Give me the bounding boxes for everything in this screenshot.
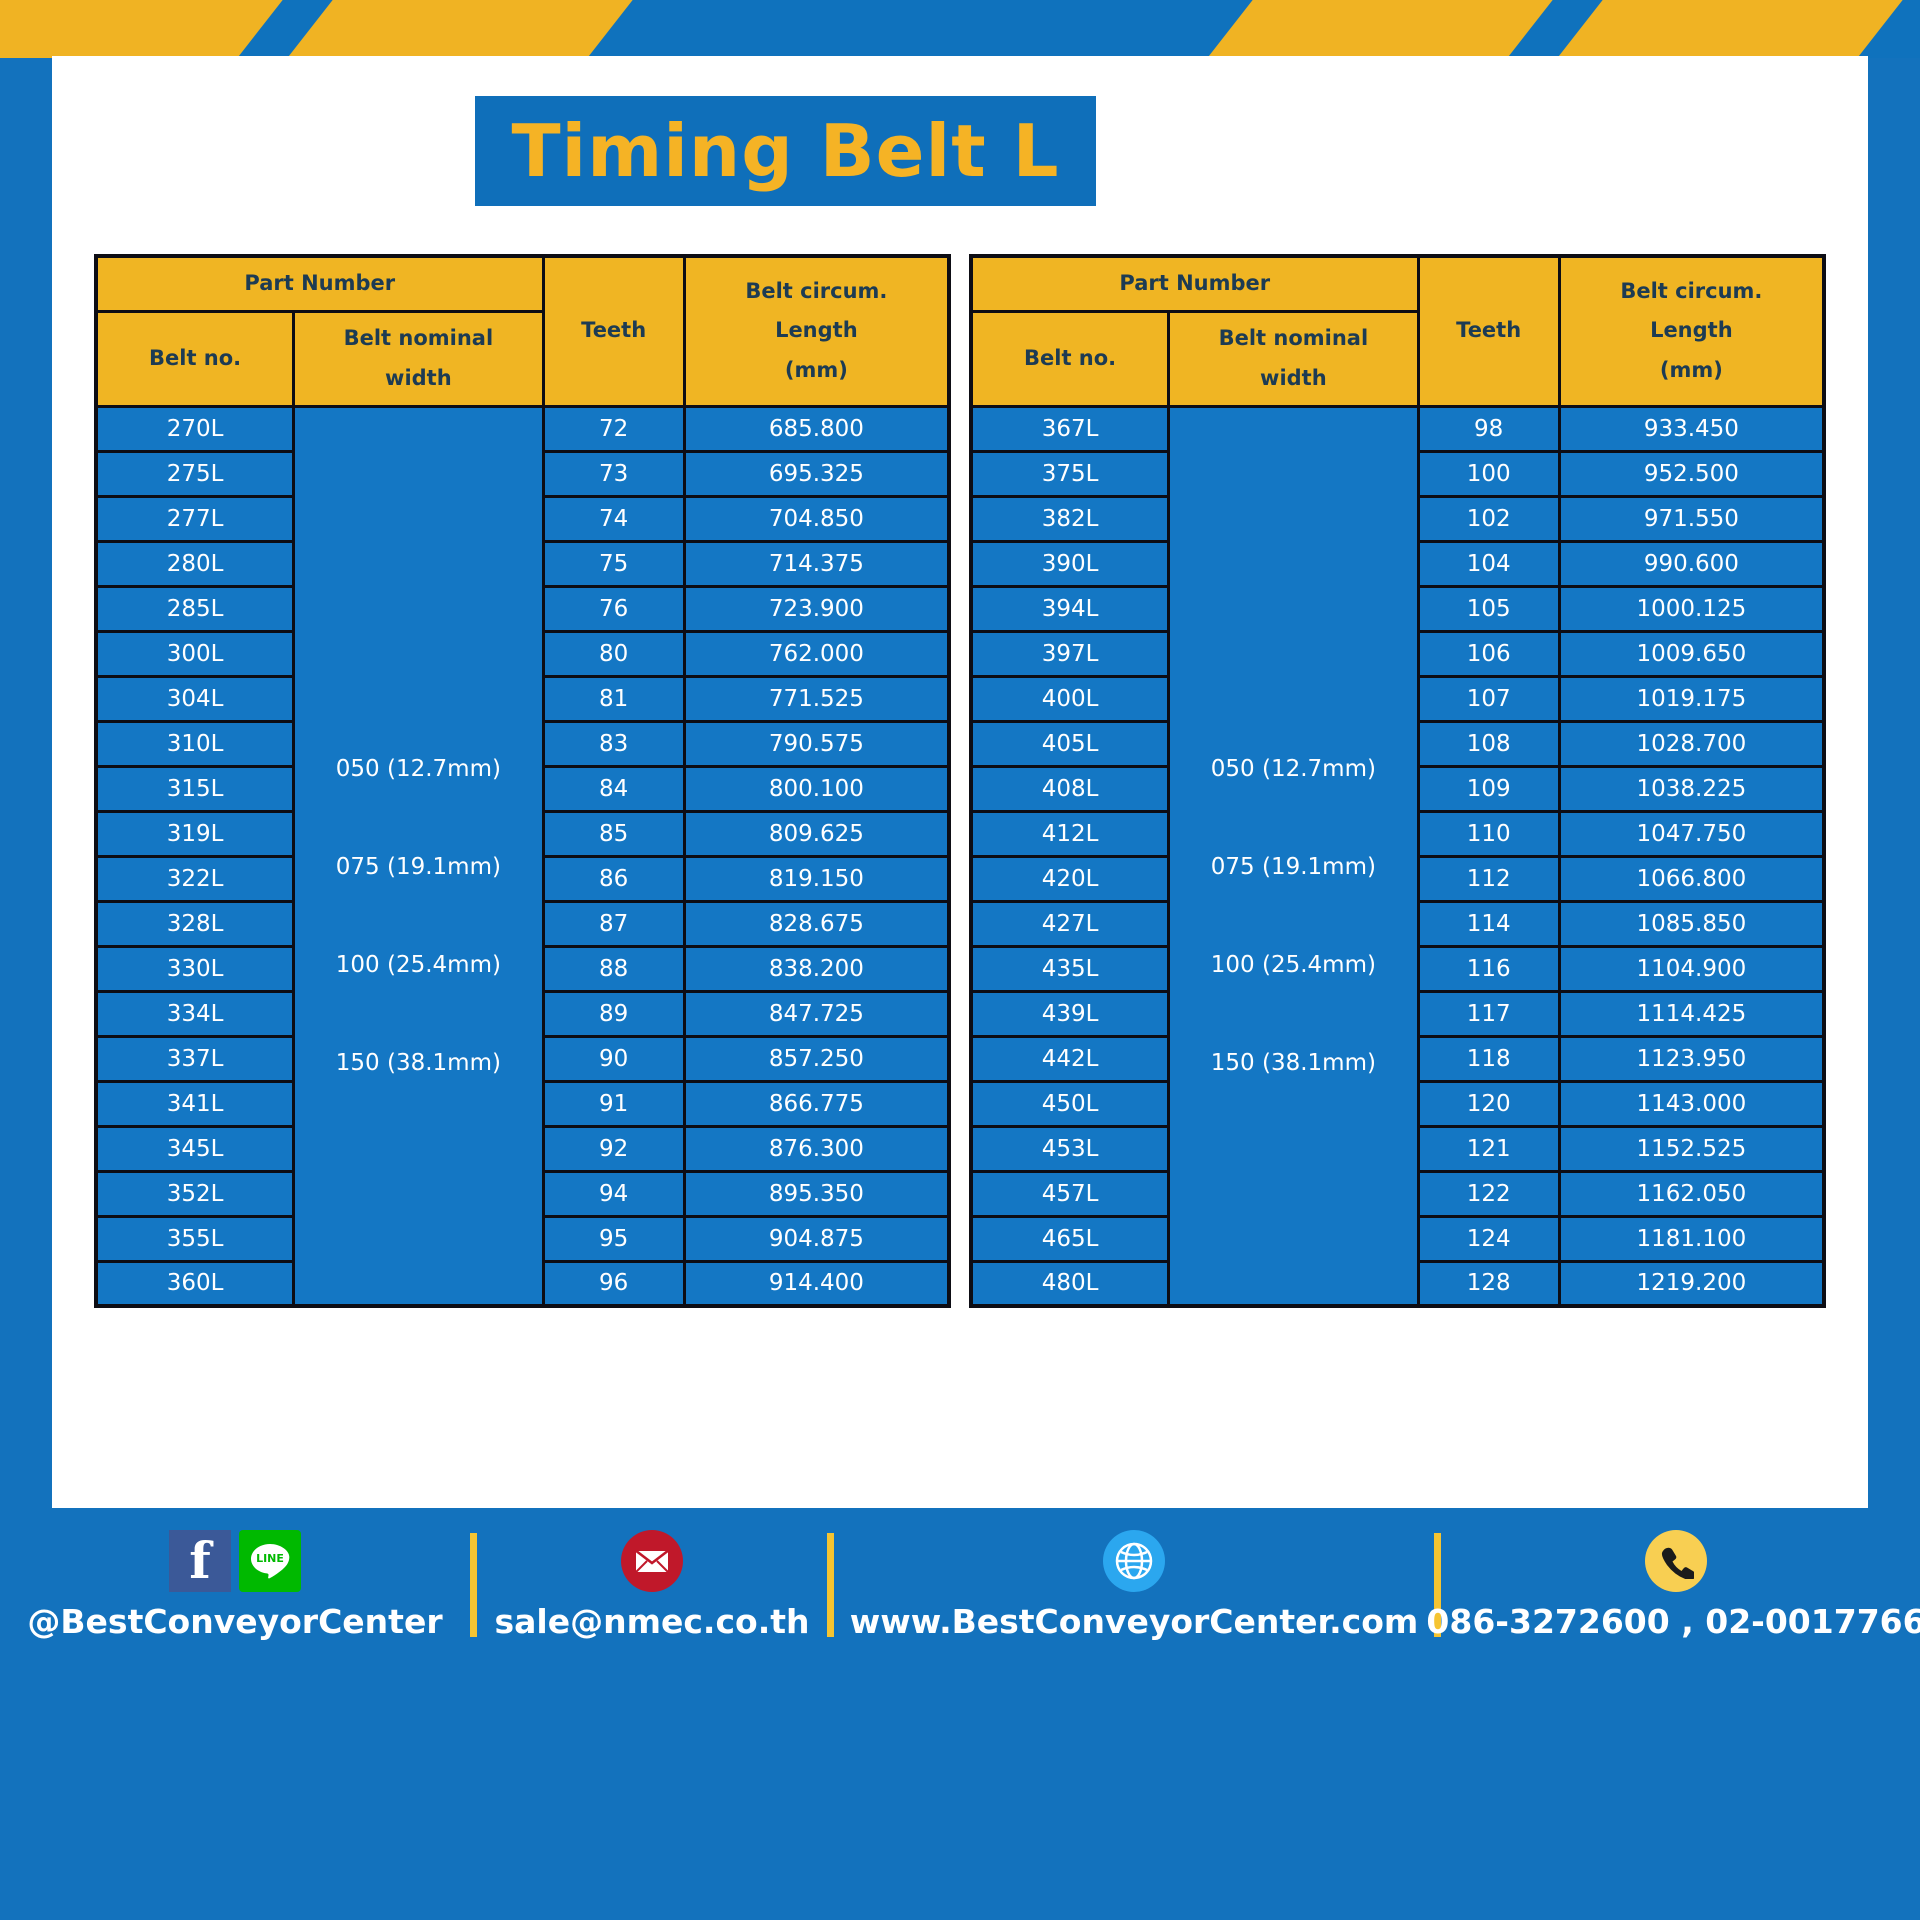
header-mm-unit: (mm) <box>690 351 943 391</box>
table-row: 367L050 (12.7mm)075 (19.1mm)100 (25.4mm)… <box>971 406 1824 451</box>
facebook-icon[interactable]: f <box>169 1530 231 1592</box>
belt-table-right-body: 367L050 (12.7mm)075 (19.1mm)100 (25.4mm)… <box>971 406 1824 1306</box>
cell-teeth: 120 <box>1418 1081 1559 1126</box>
cell-belt-nominal-width: 050 (12.7mm)075 (19.1mm)100 (25.4mm)150 … <box>294 406 543 1306</box>
cell-length-mm: 971.550 <box>1559 496 1824 541</box>
cell-length-mm: 1038.225 <box>1559 766 1824 811</box>
email-address[interactable]: sale@nmec.co.th <box>495 1602 810 1641</box>
cell-length-mm: 876.300 <box>684 1126 949 1171</box>
cell-teeth: 109 <box>1418 766 1559 811</box>
width-option: 150 (38.1mm) <box>297 978 539 1076</box>
cell-length-mm: 952.500 <box>1559 451 1824 496</box>
chevron-decoration <box>1204 0 1556 58</box>
cell-teeth: 83 <box>543 721 684 766</box>
cell-length-mm: 895.350 <box>684 1171 949 1216</box>
cell-belt-no: 322L <box>96 856 294 901</box>
cell-length-mm: 762.000 <box>684 631 949 676</box>
cell-belt-no: 397L <box>971 631 1169 676</box>
header-belt-circum-length: Belt circum. Length (mm) <box>1559 256 1824 406</box>
cell-teeth: 98 <box>1418 406 1559 451</box>
table-header-row-1: Part Number Teeth Belt circum. Length (m… <box>96 256 949 311</box>
cell-length-mm: 857.250 <box>684 1036 949 1081</box>
cell-length-mm: 1047.750 <box>1559 811 1824 856</box>
svg-text:LINE: LINE <box>256 1552 284 1565</box>
cell-length-mm: 800.100 <box>684 766 949 811</box>
footer-divider <box>827 1533 834 1637</box>
header-length: Length <box>690 311 943 351</box>
cell-teeth: 104 <box>1418 541 1559 586</box>
header-teeth: Teeth <box>543 256 684 406</box>
cell-teeth: 112 <box>1418 856 1559 901</box>
cell-length-mm: 704.850 <box>684 496 949 541</box>
cell-belt-no: 337L <box>96 1036 294 1081</box>
belt-table-left: Part Number Teeth Belt circum. Length (m… <box>94 254 951 1308</box>
cell-belt-no: 352L <box>96 1171 294 1216</box>
cell-length-mm: 1009.650 <box>1559 631 1824 676</box>
cell-teeth: 117 <box>1418 991 1559 1036</box>
cell-length-mm: 866.775 <box>684 1081 949 1126</box>
footer-phone-group[interactable]: 086-3272600 , 02-0017766 <box>1441 1530 1911 1641</box>
chevron-decoration <box>1554 0 1906 58</box>
email-icons <box>621 1530 683 1592</box>
header-belt-circum: Belt circum. <box>690 272 943 312</box>
cell-length-mm: 1114.425 <box>1559 991 1824 1036</box>
cell-length-mm: 723.900 <box>684 586 949 631</box>
footer-website-group[interactable]: www.BestConveyorCenter.com <box>834 1530 1434 1641</box>
cell-belt-no: 277L <box>96 496 294 541</box>
footer-email-group[interactable]: sale@nmec.co.th <box>477 1530 827 1641</box>
cell-length-mm: 1019.175 <box>1559 676 1824 721</box>
cell-teeth: 102 <box>1418 496 1559 541</box>
cell-teeth: 116 <box>1418 946 1559 991</box>
cell-length-mm: 1028.700 <box>1559 721 1824 766</box>
cell-belt-no: 310L <box>96 721 294 766</box>
globe-icon[interactable] <box>1103 1530 1165 1592</box>
cell-belt-no: 285L <box>96 586 294 631</box>
header-part-number: Part Number <box>971 256 1418 311</box>
header-belt-circum-length: Belt circum. Length (mm) <box>684 256 949 406</box>
line-icon[interactable]: LINE <box>239 1530 301 1592</box>
header-belt-no: Belt no. <box>971 311 1169 406</box>
cell-belt-no: 465L <box>971 1216 1169 1261</box>
cell-teeth: 84 <box>543 766 684 811</box>
cell-teeth: 122 <box>1418 1171 1559 1216</box>
cell-length-mm: 1000.125 <box>1559 586 1824 631</box>
cell-teeth: 86 <box>543 856 684 901</box>
cell-teeth: 108 <box>1418 721 1559 766</box>
cell-teeth: 88 <box>543 946 684 991</box>
cell-belt-no: 304L <box>96 676 294 721</box>
cell-length-mm: 1152.525 <box>1559 1126 1824 1171</box>
cell-teeth: 76 <box>543 586 684 631</box>
page-title: Timing Belt L <box>511 109 1059 193</box>
footer-social-group[interactable]: f LINE @BestConveyorCenter <box>0 1530 470 1641</box>
cell-length-mm: 904.875 <box>684 1216 949 1261</box>
cell-belt-no: 400L <box>971 676 1169 721</box>
cell-teeth: 128 <box>1418 1261 1559 1306</box>
cell-length-mm: 790.575 <box>684 721 949 766</box>
phone-icon[interactable] <box>1645 1530 1707 1592</box>
cell-belt-no: 435L <box>971 946 1169 991</box>
cell-belt-no: 375L <box>971 451 1169 496</box>
cell-teeth: 74 <box>543 496 684 541</box>
cell-length-mm: 809.625 <box>684 811 949 856</box>
chevron-decoration <box>0 0 286 58</box>
cell-belt-no: 442L <box>971 1036 1169 1081</box>
header-belt-nominal: Belt nominal <box>1174 319 1412 359</box>
cell-belt-no: 355L <box>96 1216 294 1261</box>
cell-teeth: 91 <box>543 1081 684 1126</box>
cell-belt-no: 300L <box>96 631 294 676</box>
cell-belt-no: 367L <box>971 406 1169 451</box>
header-part-number: Part Number <box>96 256 543 311</box>
cell-teeth: 96 <box>543 1261 684 1306</box>
cell-length-mm: 1219.200 <box>1559 1261 1824 1306</box>
width-option: 100 (25.4mm) <box>297 880 539 978</box>
cell-teeth: 106 <box>1418 631 1559 676</box>
cell-teeth: 100 <box>1418 451 1559 496</box>
header-belt-nominal-width: Belt nominal width <box>1169 311 1418 406</box>
cell-teeth: 110 <box>1418 811 1559 856</box>
cell-length-mm: 771.525 <box>684 676 949 721</box>
cell-teeth: 81 <box>543 676 684 721</box>
cell-length-mm: 914.400 <box>684 1261 949 1306</box>
cell-length-mm: 1162.050 <box>1559 1171 1824 1216</box>
cell-length-mm: 838.200 <box>684 946 949 991</box>
cell-length-mm: 695.325 <box>684 451 949 496</box>
content-card: Timing Belt L Part Number Teeth Belt cir… <box>52 56 1868 1508</box>
cell-length-mm: 714.375 <box>684 541 949 586</box>
cell-belt-no: 450L <box>971 1081 1169 1126</box>
cell-teeth: 114 <box>1418 901 1559 946</box>
top-decorative-bar <box>0 0 1920 58</box>
cell-belt-no: 270L <box>96 406 294 451</box>
cell-length-mm: 1104.900 <box>1559 946 1824 991</box>
cell-belt-no: 390L <box>971 541 1169 586</box>
cell-teeth: 72 <box>543 406 684 451</box>
cell-belt-no: 405L <box>971 721 1169 766</box>
width-option: 050 (12.7mm) <box>297 636 539 782</box>
width-option: 150 (38.1mm) <box>1172 978 1414 1076</box>
phone-icons <box>1645 1530 1707 1592</box>
cell-teeth: 92 <box>543 1126 684 1171</box>
cell-belt-no: 382L <box>971 496 1169 541</box>
belt-table-right: Part Number Teeth Belt circum. Length (m… <box>969 254 1826 1308</box>
cell-belt-no: 345L <box>96 1126 294 1171</box>
cell-belt-no: 412L <box>971 811 1169 856</box>
cell-belt-no: 319L <box>96 811 294 856</box>
cell-length-mm: 828.675 <box>684 901 949 946</box>
cell-teeth: 80 <box>543 631 684 676</box>
cell-belt-no: 408L <box>971 766 1169 811</box>
social-icons: f LINE <box>169 1530 301 1592</box>
envelope-icon[interactable] <box>621 1530 683 1592</box>
header-teeth: Teeth <box>1418 256 1559 406</box>
cell-length-mm: 1066.800 <box>1559 856 1824 901</box>
cell-belt-no: 480L <box>971 1261 1169 1306</box>
header-belt-no: Belt no. <box>96 311 294 406</box>
page-title-banner: Timing Belt L <box>475 96 1096 206</box>
cell-length-mm: 685.800 <box>684 406 949 451</box>
cell-belt-no: 315L <box>96 766 294 811</box>
header-length: Length <box>1565 311 1818 351</box>
cell-belt-no: 275L <box>96 451 294 496</box>
header-belt-circum: Belt circum. <box>1565 272 1818 312</box>
cell-teeth: 95 <box>543 1216 684 1261</box>
cell-teeth: 73 <box>543 451 684 496</box>
cell-belt-no: 453L <box>971 1126 1169 1171</box>
cell-belt-no: 280L <box>96 541 294 586</box>
cell-belt-no: 360L <box>96 1261 294 1306</box>
header-belt-nominal-width: Belt nominal width <box>294 311 543 406</box>
cell-belt-no: 334L <box>96 991 294 1036</box>
width-option: 075 (19.1mm) <box>1172 782 1414 880</box>
table-row: 270L050 (12.7mm)075 (19.1mm)100 (25.4mm)… <box>96 406 949 451</box>
cell-teeth: 90 <box>543 1036 684 1081</box>
cell-length-mm: 1085.850 <box>1559 901 1824 946</box>
header-width: width <box>1174 359 1412 399</box>
width-option: 075 (19.1mm) <box>297 782 539 880</box>
cell-length-mm: 847.725 <box>684 991 949 1036</box>
website-icons <box>1103 1530 1165 1592</box>
cell-length-mm: 933.450 <box>1559 406 1824 451</box>
cell-teeth: 89 <box>543 991 684 1036</box>
belt-table-left-body: 270L050 (12.7mm)075 (19.1mm)100 (25.4mm)… <box>96 406 949 1306</box>
cell-teeth: 85 <box>543 811 684 856</box>
cell-teeth: 124 <box>1418 1216 1559 1261</box>
cell-belt-no: 427L <box>971 901 1169 946</box>
website-url[interactable]: www.BestConveyorCenter.com <box>850 1602 1419 1641</box>
cell-belt-nominal-width: 050 (12.7mm)075 (19.1mm)100 (25.4mm)150 … <box>1169 406 1418 1306</box>
chevron-decoration <box>284 0 636 58</box>
header-belt-nominal: Belt nominal <box>299 319 537 359</box>
header-width: width <box>299 359 537 399</box>
cell-teeth: 75 <box>543 541 684 586</box>
cell-belt-no: 394L <box>971 586 1169 631</box>
cell-belt-no: 439L <box>971 991 1169 1036</box>
cell-belt-no: 420L <box>971 856 1169 901</box>
cell-teeth: 121 <box>1418 1126 1559 1171</box>
cell-length-mm: 1143.000 <box>1559 1081 1824 1126</box>
header-mm-unit: (mm) <box>1565 351 1818 391</box>
cell-teeth: 105 <box>1418 586 1559 631</box>
cell-belt-no: 328L <box>96 901 294 946</box>
cell-belt-no: 457L <box>971 1171 1169 1216</box>
cell-teeth: 107 <box>1418 676 1559 721</box>
cell-length-mm: 819.150 <box>684 856 949 901</box>
cell-belt-no: 330L <box>96 946 294 991</box>
cell-belt-no: 341L <box>96 1081 294 1126</box>
table-header-row-1: Part Number Teeth Belt circum. Length (m… <box>971 256 1824 311</box>
cell-length-mm: 1123.950 <box>1559 1036 1824 1081</box>
cell-teeth: 118 <box>1418 1036 1559 1081</box>
width-option: 050 (12.7mm) <box>1172 636 1414 782</box>
cell-teeth: 94 <box>543 1171 684 1216</box>
belt-tables: Part Number Teeth Belt circum. Length (m… <box>94 254 1826 1308</box>
width-option: 100 (25.4mm) <box>1172 880 1414 978</box>
footer-divider <box>470 1533 477 1637</box>
cell-length-mm: 1181.100 <box>1559 1216 1824 1261</box>
cell-length-mm: 990.600 <box>1559 541 1824 586</box>
footer-contact-row: f LINE @BestConveyorCenter <box>0 1530 1920 1641</box>
phone-numbers[interactable]: 086-3272600 , 02-0017766 <box>1426 1602 1920 1641</box>
page-footer: f LINE @BestConveyorCenter <box>0 1508 1920 1920</box>
cell-teeth: 87 <box>543 901 684 946</box>
facebook-handle[interactable]: @BestConveyorCenter <box>27 1602 442 1641</box>
